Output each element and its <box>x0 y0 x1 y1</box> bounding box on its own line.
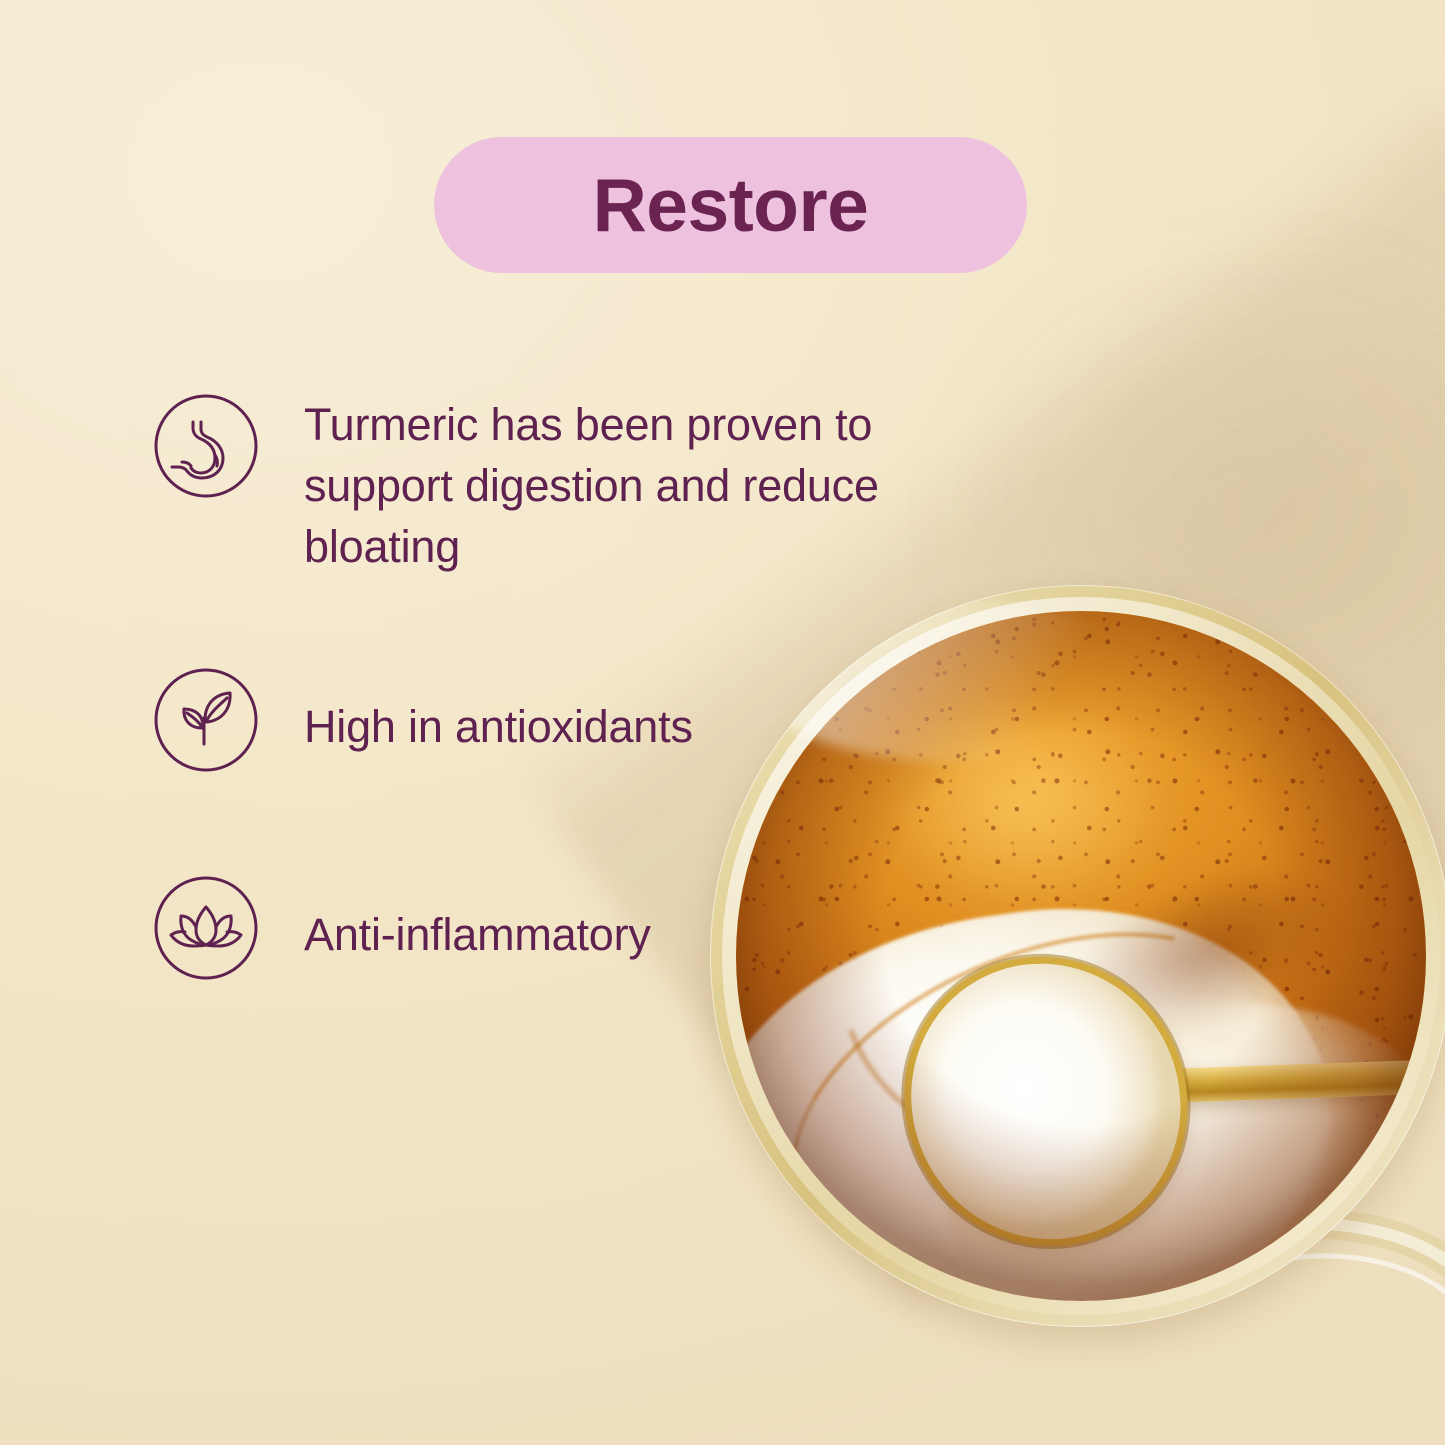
promo-graphic: Restore Turmeric has been proven to supp… <box>0 0 1445 1445</box>
restore-badge: Restore <box>434 137 1027 273</box>
benefit-text-antioxidants: High in antioxidants <box>304 666 693 757</box>
restore-badge-label: Restore <box>593 168 869 243</box>
benefit-text-digestion: Turmeric has been proven to support dige… <box>304 392 914 578</box>
leaf-sprout-icon <box>152 666 260 774</box>
benefit-text-anti-inflammatory: Anti-inflammatory <box>304 874 651 965</box>
benefits-list: Turmeric has been proven to support dige… <box>152 392 972 982</box>
benefit-item-antioxidants: High in antioxidants <box>152 666 972 774</box>
benefit-item-anti-inflammatory: Anti-inflammatory <box>152 874 972 982</box>
lotus-flower-icon <box>152 874 260 982</box>
benefit-item-digestion: Turmeric has been proven to support dige… <box>152 392 972 578</box>
stomach-icon <box>152 392 260 500</box>
